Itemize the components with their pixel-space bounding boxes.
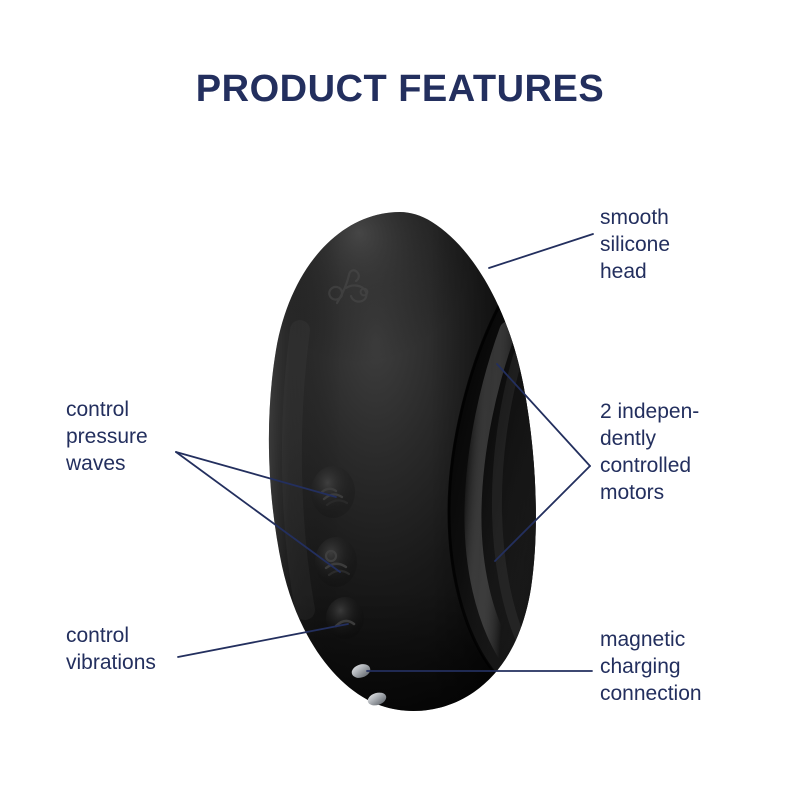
leader-two-motors-upper [497,364,590,466]
product-features-diagram: PRODUCT FEATURES [0,0,800,800]
leader-smooth-silicone-head [489,234,593,268]
leader-lines [0,0,800,800]
leader-control-vibrations [178,624,348,657]
leader-pressure-wave-upper [176,452,336,497]
leader-two-motors-lower [495,466,590,561]
leader-pressure-wave-lower [176,452,340,572]
